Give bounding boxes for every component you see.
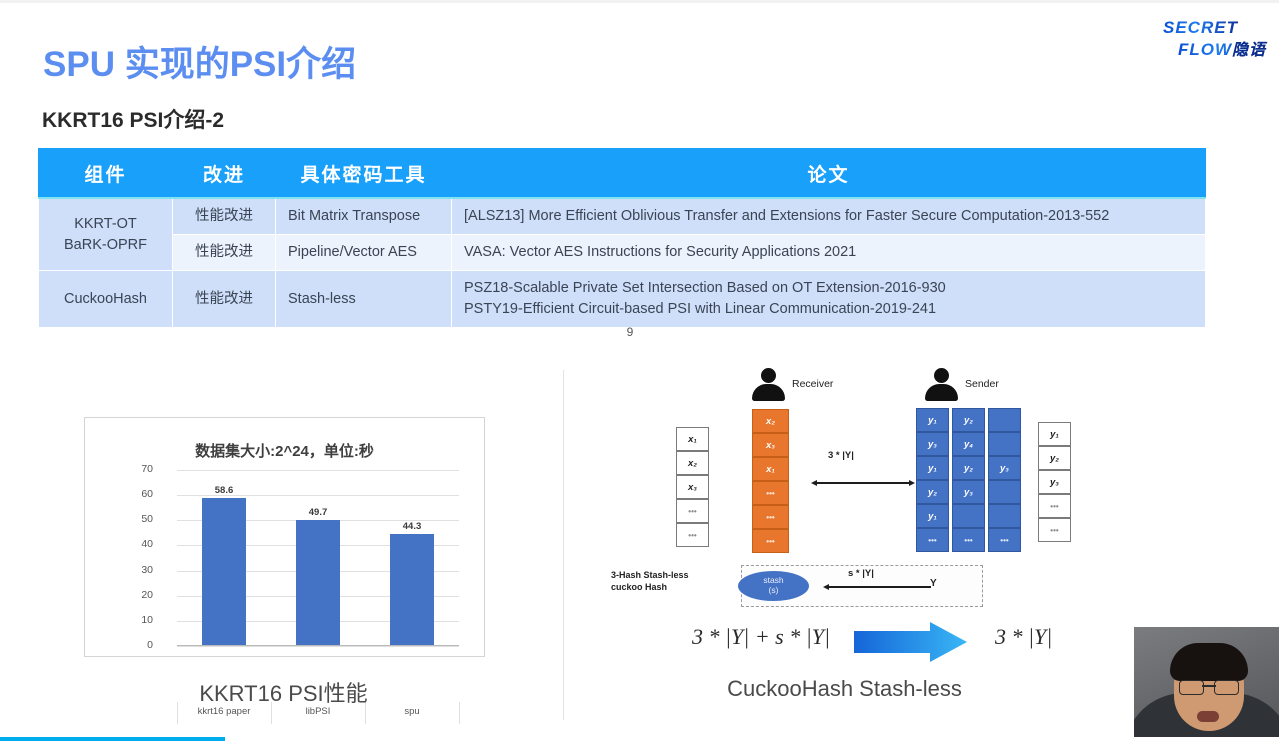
diagram-cell — [988, 480, 1021, 504]
chart-y-tick: 50 — [123, 513, 153, 525]
diagram-cell: ••• — [1038, 494, 1071, 518]
diagram-cell: y₃ — [988, 456, 1021, 480]
stash-node-line-2: (s) — [769, 586, 779, 596]
chart-gridline — [177, 470, 459, 471]
diagram-cell: ••• — [952, 528, 985, 552]
webcam-glasses — [1179, 680, 1239, 693]
diagram-cell — [988, 408, 1021, 432]
cell-paper-3: PSZ18-Scalable Private Set Intersection … — [452, 271, 1206, 328]
diagram-cell — [952, 504, 985, 528]
receiver-label: Receiver — [792, 378, 833, 390]
receiver-input-column: x₁x₂x₃•••••• — [676, 427, 709, 547]
big-blue-arrow-icon — [854, 622, 967, 662]
table-row: 性能改进 Pipeline/Vector AES VASA: Vector AE… — [39, 235, 1206, 271]
cell-component-kkrt: KKRT-OT BaRK-OPRF — [39, 198, 173, 271]
diagram-cell: ••• — [752, 481, 789, 505]
cell-paper-1: [ALSZ13] More Efficient Oblivious Transf… — [452, 198, 1206, 235]
diagram-cell: y₂ — [952, 408, 985, 432]
paper-line-1: PSZ18-Scalable Private Set Intersection … — [464, 278, 1193, 299]
person-body-icon — [925, 384, 958, 401]
logo-line-flow: FLOW隐语 — [1178, 36, 1266, 60]
diagram-cell: ••• — [752, 505, 789, 529]
diagram-cell: y₂ — [916, 480, 949, 504]
chart-x-axis — [177, 645, 459, 646]
chart-y-tick: 10 — [123, 614, 153, 626]
diagram-cell: y₃ — [916, 432, 949, 456]
sender-hash-column-2: y₂y₄y₂y₃••• — [952, 408, 985, 552]
chart-title: 数据集大小:2^24，单位:秒 — [85, 440, 484, 461]
person-head-icon — [934, 368, 949, 383]
diagram-cell: y₁ — [916, 504, 949, 528]
diagram-cell: ••• — [676, 499, 709, 523]
chart-bar — [296, 520, 340, 645]
glasses-right-lens — [1214, 680, 1239, 695]
content-divider — [563, 370, 564, 720]
receiver-hash-table-column: x₂x₃x₁••••••••• — [752, 409, 789, 553]
webcam-mouth — [1197, 711, 1219, 722]
psi-improvements-table: 组件 改进 具体密码工具 论文 KKRT-OT BaRK-OPRF 性能改进 B… — [38, 148, 1206, 328]
table-row: KKRT-OT BaRK-OPRF 性能改进 Bit Matrix Transp… — [39, 198, 1206, 235]
equation-before: 3 * |Y| + s * |Y| — [692, 624, 830, 650]
col-header-component: 组件 — [39, 149, 173, 199]
page-number: 9 — [0, 325, 1260, 339]
diagram-cell: x₃ — [676, 475, 709, 499]
transfer-arrow — [816, 482, 910, 484]
diagram-cell: y₃ — [952, 480, 985, 504]
diagram-cell: y₃ — [1038, 470, 1071, 494]
paper-line-2: PSTY19-Efficient Circuit-based PSI with … — [464, 299, 1193, 320]
diagram-cell: y₄ — [952, 432, 985, 456]
diagram-cell: x₁ — [676, 427, 709, 451]
sender-input-column: y₁y₂y₃•••••• — [1038, 422, 1071, 542]
equation-after: 3 * |Y| — [995, 624, 1052, 650]
logo-chinese: 隐语 — [1232, 42, 1266, 59]
webcam-overlay[interactable] — [1134, 627, 1279, 741]
diagram-cell: ••• — [988, 528, 1021, 552]
col-header-tool: 具体密码工具 — [276, 149, 452, 199]
sender-hash-column-1: y₁y₃y₁y₂y₁••• — [916, 408, 949, 552]
diagram-cell: y₂ — [1038, 446, 1071, 470]
sender-label: Sender — [965, 378, 999, 390]
chart-plot-area: 01020304050607058.6kkrt16 paper49.7libPS… — [177, 470, 459, 646]
person-body-icon — [752, 384, 785, 401]
chart-y-tick: 60 — [123, 488, 153, 500]
table-row: CuckooHash 性能改进 Stash-less PSZ18-Scalabl… — [39, 271, 1206, 328]
chart-bar — [202, 498, 246, 645]
diagram-cell: ••• — [676, 523, 709, 547]
cell-tool-1: Bit Matrix Transpose — [276, 198, 452, 235]
cell-improvement-2: 性能改进 — [173, 235, 276, 271]
stash-arrow-label: s * |Y| — [848, 568, 874, 579]
diagram-cell: y₁ — [916, 408, 949, 432]
diagram-cell: y₂ — [952, 456, 985, 480]
cell-tool-2: Pipeline/Vector AES — [276, 235, 452, 271]
diagram-cell: ••• — [752, 529, 789, 553]
chart-value-label: 49.7 — [288, 507, 348, 518]
cell-improvement-1: 性能改进 — [173, 198, 276, 235]
col-header-paper: 论文 — [452, 149, 1206, 199]
col-header-improvement: 改进 — [173, 149, 276, 199]
diagram-caption: CuckooHash Stash-less — [600, 676, 1089, 702]
diagram-cell: x₃ — [752, 433, 789, 457]
chart-gridline — [177, 646, 459, 647]
person-head-icon — [761, 368, 776, 383]
stash-arrow — [828, 586, 931, 588]
chart-value-label: 44.3 — [382, 521, 442, 532]
chart-caption: KKRT16 PSI性能 — [84, 676, 483, 708]
page-title: SPU 实现的PSI介绍 — [43, 36, 356, 87]
section-subtitle: KKRT16 PSI介绍-2 — [42, 104, 224, 134]
progress-fill — [0, 737, 225, 741]
diagram-cell: x₁ — [752, 457, 789, 481]
chart-y-tick: 20 — [123, 589, 153, 601]
cuckoohash-diagram: Receiver Sender x₁x₂x₃•••••• x₂x₃x₁•••••… — [600, 362, 1200, 672]
cell-tool-3: Stash-less — [276, 271, 452, 328]
stash-caption-line-1: 3-Hash Stash-less — [611, 569, 739, 581]
sender-hash-column-3: y₃••• — [988, 408, 1021, 552]
chart-value-label: 58.6 — [194, 485, 254, 496]
diagram-cell: x₂ — [752, 409, 789, 433]
webcam-hair — [1170, 643, 1248, 681]
component-line-1: KKRT-OT — [51, 214, 160, 235]
stash-caption-line-2: cuckoo Hash — [611, 581, 739, 593]
stash-caption: 3-Hash Stash-less cuckoo Hash — [611, 569, 739, 593]
diagram-cell — [988, 432, 1021, 456]
diagram-cell: x₂ — [676, 451, 709, 475]
transfer-label: 3 * |Y| — [828, 450, 854, 461]
diagram-cell — [988, 504, 1021, 528]
top-border — [0, 0, 1279, 3]
component-line-2: BaRK-OPRF — [51, 235, 160, 256]
presentation-progress-bar[interactable] — [0, 737, 1279, 741]
diagram-cell: y₁ — [1038, 422, 1071, 446]
stash-y-label: Y — [930, 578, 937, 589]
cell-component-cuckoohash: CuckooHash — [39, 271, 173, 328]
secretflow-logo: SECRET FLOW隐语 — [1161, 16, 1279, 64]
psi-performance-chart: 数据集大小:2^24，单位:秒 01020304050607058.6kkrt1… — [84, 417, 485, 657]
cell-paper-2: VASA: Vector AES Instructions for Securi… — [452, 235, 1206, 271]
glasses-left-lens — [1179, 680, 1204, 695]
chart-bar — [390, 534, 434, 645]
chart-y-tick: 40 — [123, 538, 153, 550]
chart-y-tick: 0 — [123, 639, 153, 651]
cell-improvement-3: 性能改进 — [173, 271, 276, 328]
table-header-row: 组件 改进 具体密码工具 论文 — [39, 149, 1206, 199]
diagram-cell: y₁ — [916, 456, 949, 480]
diagram-cell: ••• — [916, 528, 949, 552]
diagram-cell: ••• — [1038, 518, 1071, 542]
logo-line-secret: SECRET — [1163, 18, 1238, 38]
stash-node: stash (s) — [738, 571, 809, 601]
chart-y-tick: 30 — [123, 564, 153, 576]
chart-y-tick: 70 — [123, 463, 153, 475]
